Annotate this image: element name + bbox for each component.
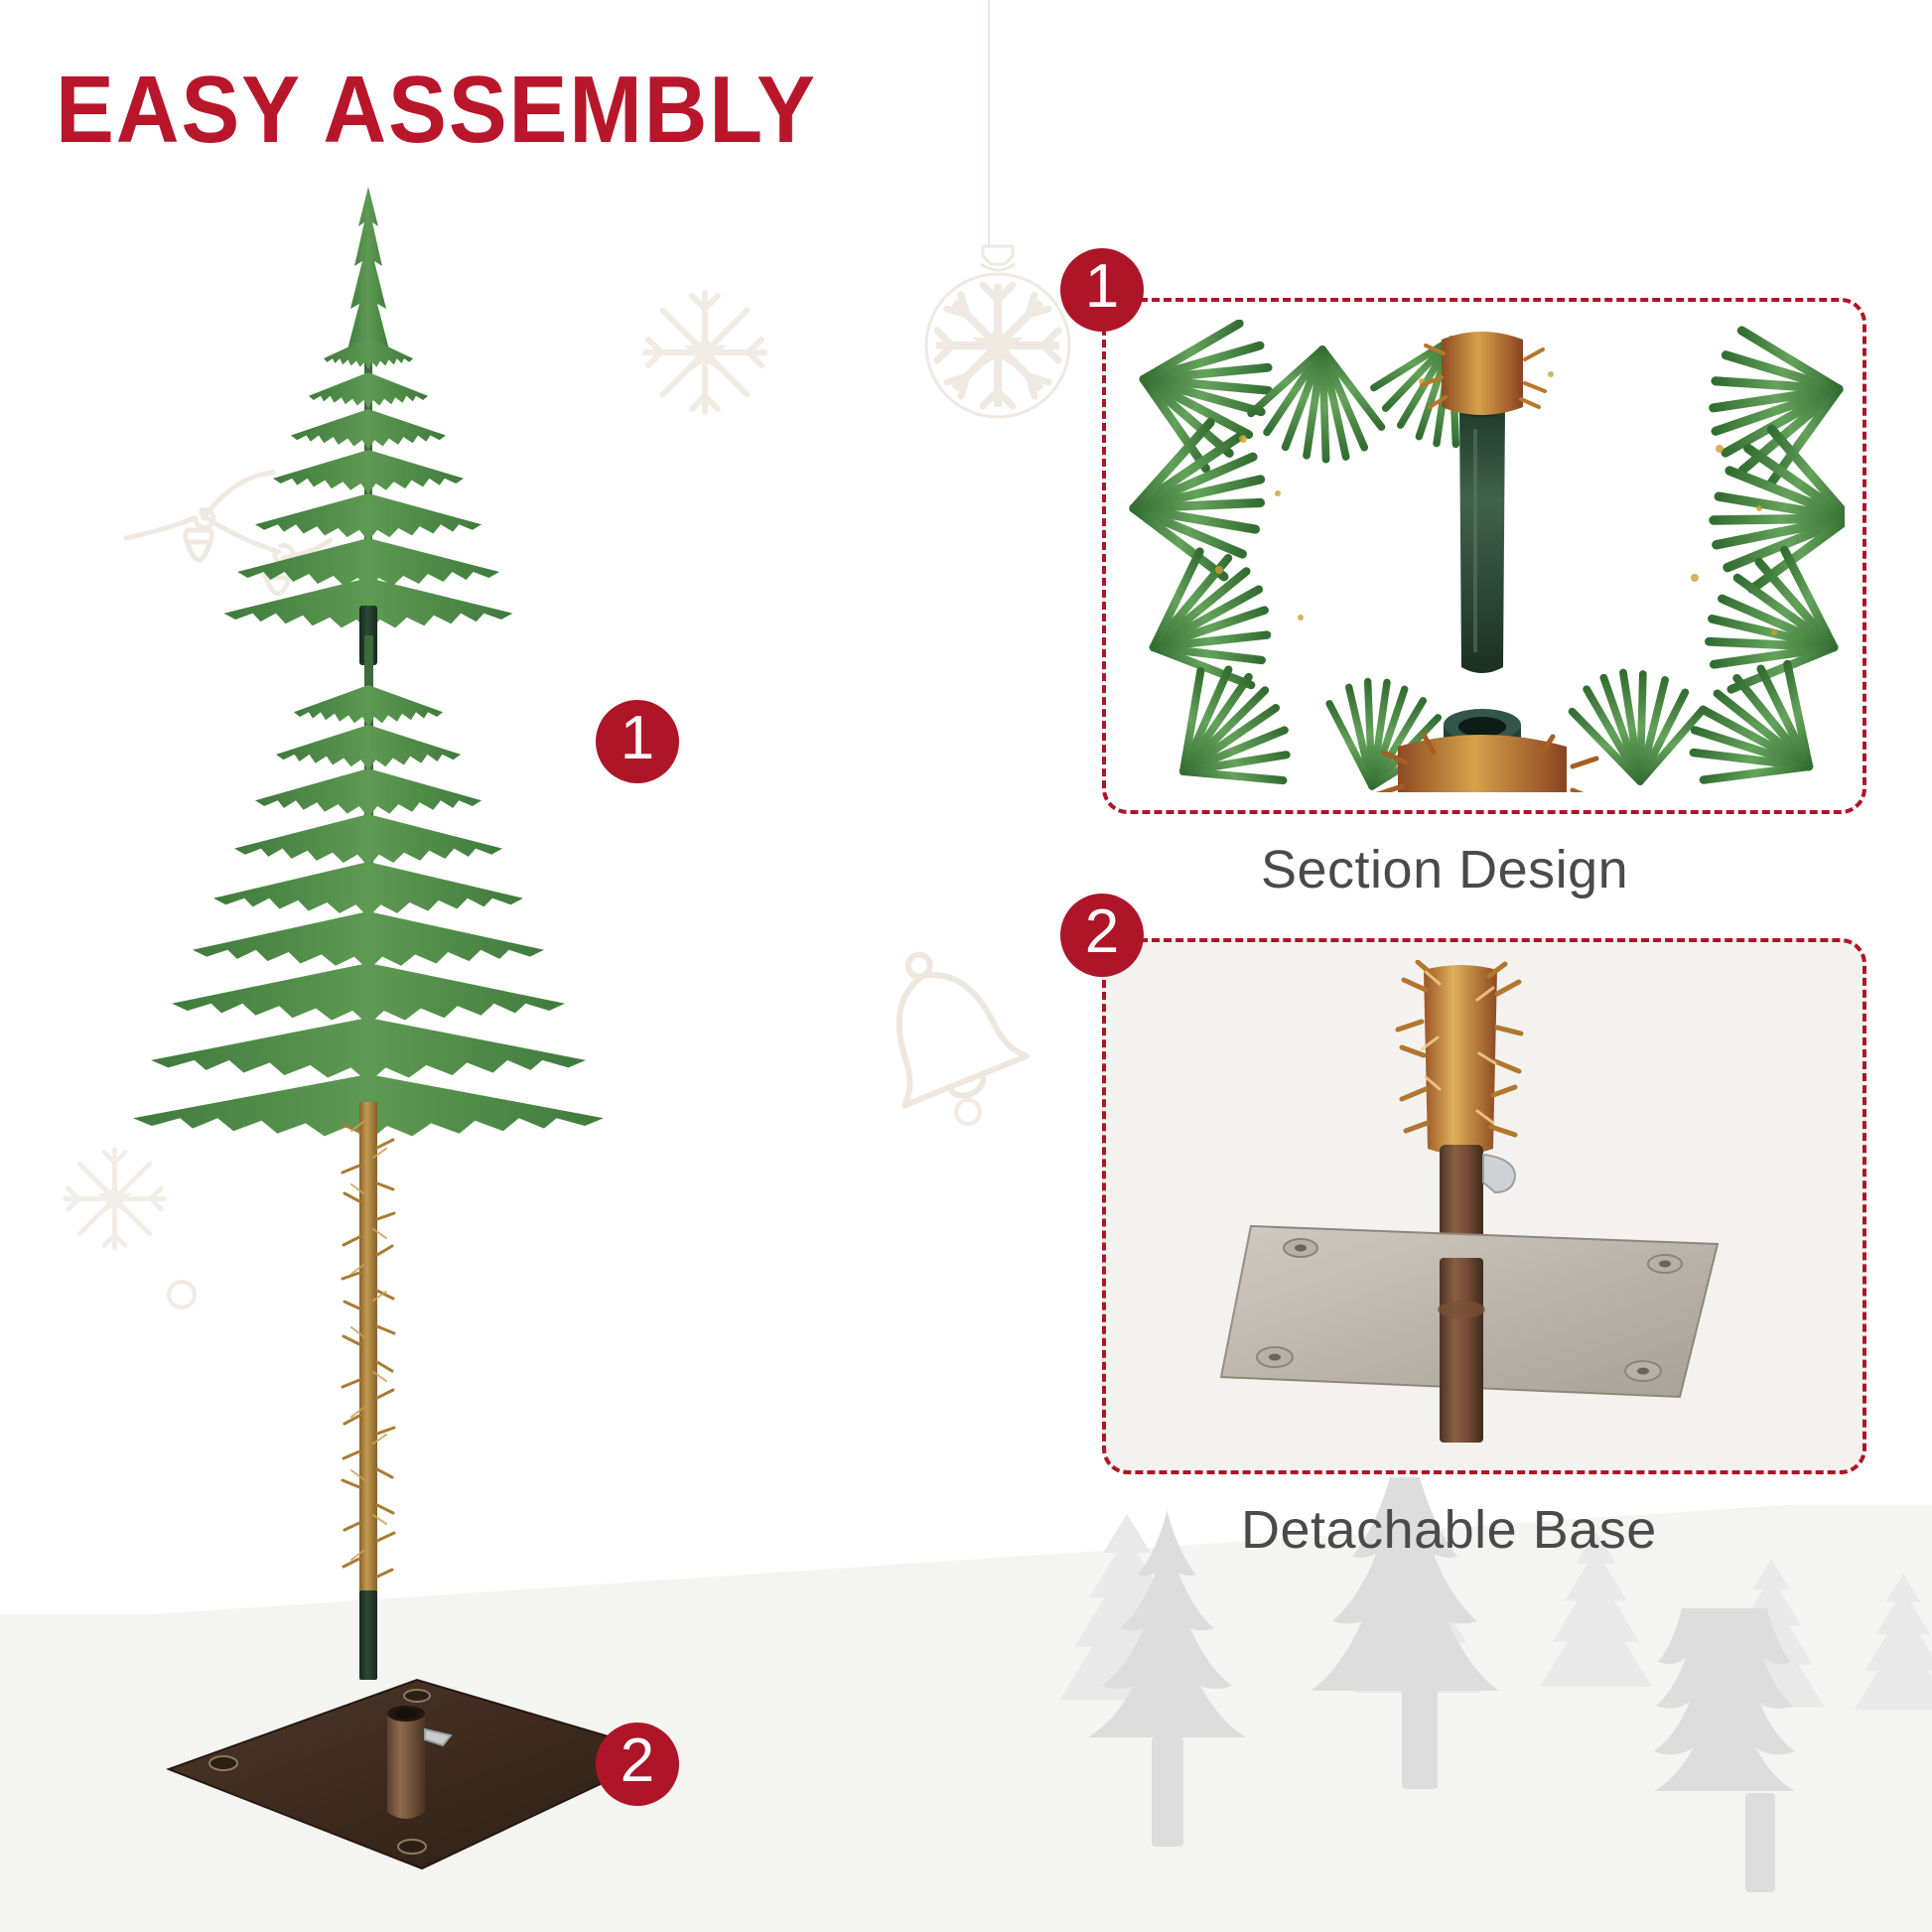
callout-1-badge-label: 1 — [1085, 256, 1119, 318]
callout-2-badge-label: 2 — [1085, 901, 1119, 963]
lower-pole — [359, 1590, 377, 1680]
callout-2-caption: Detachable Base — [1241, 1499, 1657, 1561]
tree-lower-section — [133, 635, 604, 1142]
callout-1-badge: 1 — [1060, 248, 1144, 332]
tree-marker-2-label: 2 — [621, 1730, 654, 1792]
tree-marker-1: 1 — [596, 700, 679, 783]
callout-1-photo — [1124, 320, 1845, 792]
bell-icon — [854, 938, 1042, 1142]
ornament-hanging-string — [988, 0, 990, 248]
product-image-christmas-tree — [89, 169, 725, 1932]
tree-marker-1-label: 1 — [621, 708, 654, 769]
page-title: EASY ASSEMBLY — [56, 56, 817, 165]
pole-tip — [1459, 401, 1505, 673]
hanging-ornament-snowflake-icon — [923, 238, 1072, 427]
circle-bauble-icon-2 — [953, 1097, 983, 1132]
callout-2-badge: 2 — [1060, 894, 1144, 977]
callout-1-caption: Section Design — [1261, 839, 1628, 900]
tree-marker-2: 2 — [596, 1723, 679, 1806]
tree-upper-section — [224, 187, 513, 665]
infographic-canvas: EASY ASSEMBLY — [0, 0, 1932, 1932]
callout-2-photo — [1124, 960, 1845, 1452]
callout-panel-section-design — [1102, 298, 1866, 814]
tree-trunk — [343, 1102, 394, 1598]
callout-panel-detachable-base — [1102, 938, 1866, 1474]
tree-base-plate — [169, 1680, 665, 1868]
